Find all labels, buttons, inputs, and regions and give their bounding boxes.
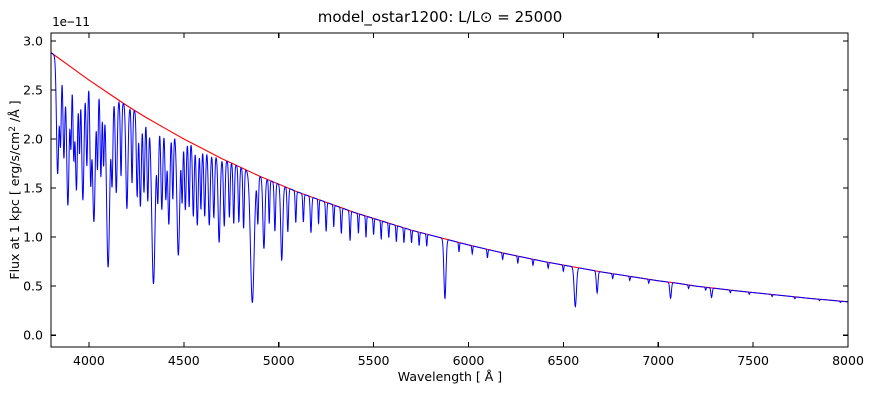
y-tick-label: 0.5 bbox=[23, 279, 43, 294]
x-tick-label: 7500 bbox=[737, 353, 769, 368]
y-axis-label-prefix: Flux at 1 kpc [ erg/s/cm bbox=[7, 132, 22, 280]
figure-canvas: 400045005000550060006500700075008000 0.0… bbox=[0, 0, 880, 400]
x-tick-label: 6500 bbox=[547, 353, 579, 368]
x-tick-label: 5000 bbox=[263, 353, 295, 368]
y-tick-label: 1.0 bbox=[23, 230, 43, 245]
x-tick-label: 7000 bbox=[642, 353, 674, 368]
y-axis-label-suffix: /Å ] bbox=[7, 100, 22, 126]
y-axis-offset-text: 1e−11 bbox=[52, 14, 90, 29]
x-tick-label: 8000 bbox=[832, 353, 864, 368]
spectrum-plot: 400045005000550060006500700075008000 0.0… bbox=[0, 0, 880, 400]
page-title: model_ostar1200: L/L⊙ = 25000 bbox=[318, 8, 563, 27]
axes-background bbox=[51, 33, 848, 347]
x-tick-label: 4500 bbox=[168, 353, 200, 368]
y-tick-label: 1.5 bbox=[23, 181, 43, 196]
y-tick-label: 3.0 bbox=[23, 33, 43, 48]
x-tick-label: 5500 bbox=[358, 353, 390, 368]
y-tick-label: 2.5 bbox=[23, 82, 43, 97]
x-tick-label: 4000 bbox=[73, 353, 105, 368]
y-tick-label: 0.0 bbox=[23, 328, 43, 343]
y-tick-label: 2.0 bbox=[23, 131, 43, 146]
x-tick-label: 6000 bbox=[453, 353, 485, 368]
x-axis-label: Wavelength [ Å ] bbox=[398, 369, 502, 384]
